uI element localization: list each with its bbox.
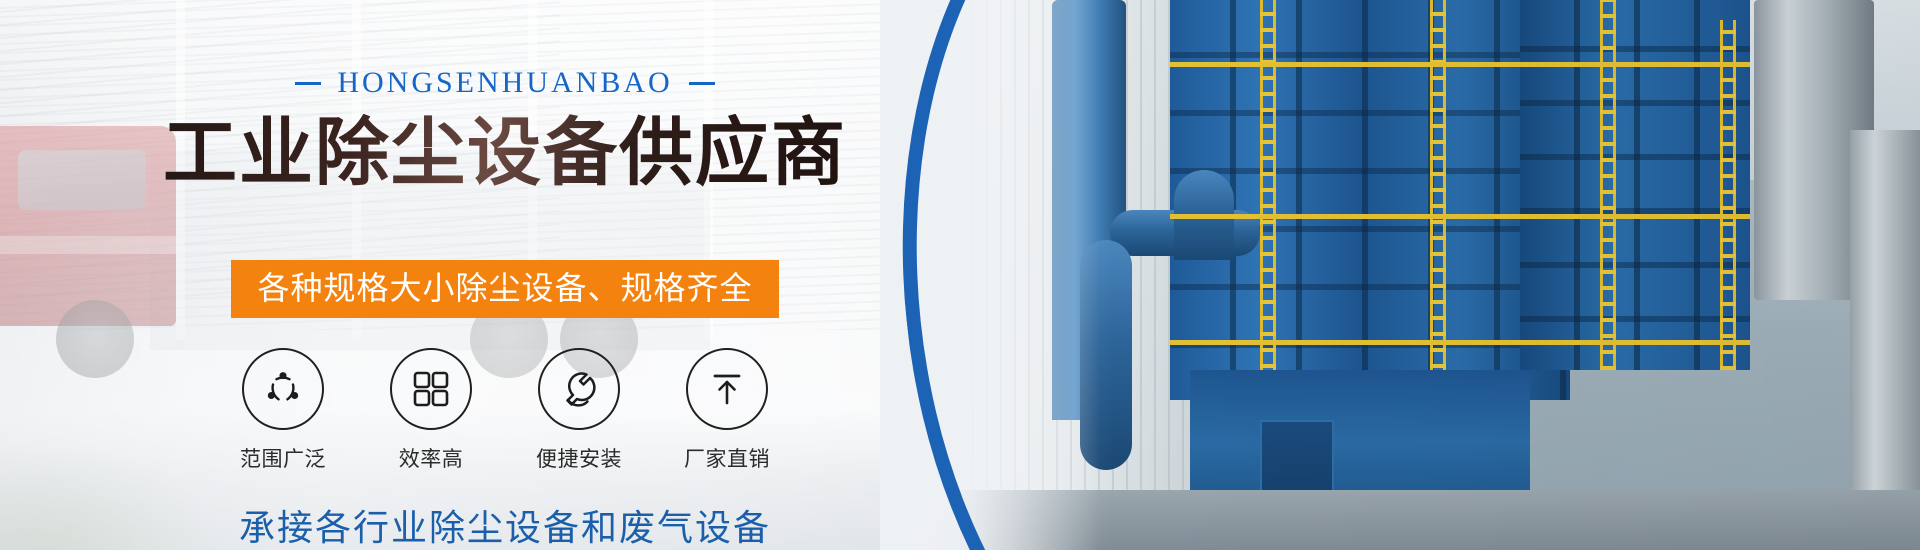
share-network-icon xyxy=(260,366,306,412)
hero-banner: HONGSENHUANBAO 工业除尘设备供应商 各种规格大小除尘设备、规格齐全 xyxy=(0,0,1920,550)
dash-left-icon xyxy=(295,82,321,85)
wrench-icon xyxy=(556,366,602,412)
feature-label: 范围广泛 xyxy=(240,443,326,473)
feature-label: 厂家直销 xyxy=(684,443,770,473)
page-title: 工业除尘设备供应商 xyxy=(163,114,847,192)
upload-arrow-icon xyxy=(706,368,748,410)
feature-icon-ring xyxy=(686,348,768,430)
dash-right-icon xyxy=(689,82,715,85)
brand-eyebrow: HONGSENHUANBAO xyxy=(295,68,714,98)
hero-content: HONGSENHUANBAO 工业除尘设备供应商 各种规格大小除尘设备、规格齐全 xyxy=(0,0,1010,550)
feature-label: 便捷安装 xyxy=(536,443,622,473)
subtitle-banner: 各种规格大小除尘设备、规格齐全 xyxy=(231,260,778,318)
feature-list: 范围广泛 效率高 xyxy=(240,348,770,473)
feature-icon-ring xyxy=(242,348,324,430)
feature-icon-ring xyxy=(390,348,472,430)
feature-icon-ring xyxy=(538,348,620,430)
feature-item-efficiency[interactable]: 效率高 xyxy=(388,348,474,473)
feature-item-factory-direct[interactable]: 厂家直销 xyxy=(684,348,770,473)
tagline: 承接各行业除尘设备和废气设备 xyxy=(239,499,771,550)
grid-squares-icon xyxy=(410,368,452,410)
feature-label: 效率高 xyxy=(399,443,464,473)
brand-eyebrow-text: HONGSENHUANBAO xyxy=(337,68,672,98)
feature-item-range[interactable]: 范围广泛 xyxy=(240,348,326,473)
feature-item-installation[interactable]: 便捷安装 xyxy=(536,348,622,473)
